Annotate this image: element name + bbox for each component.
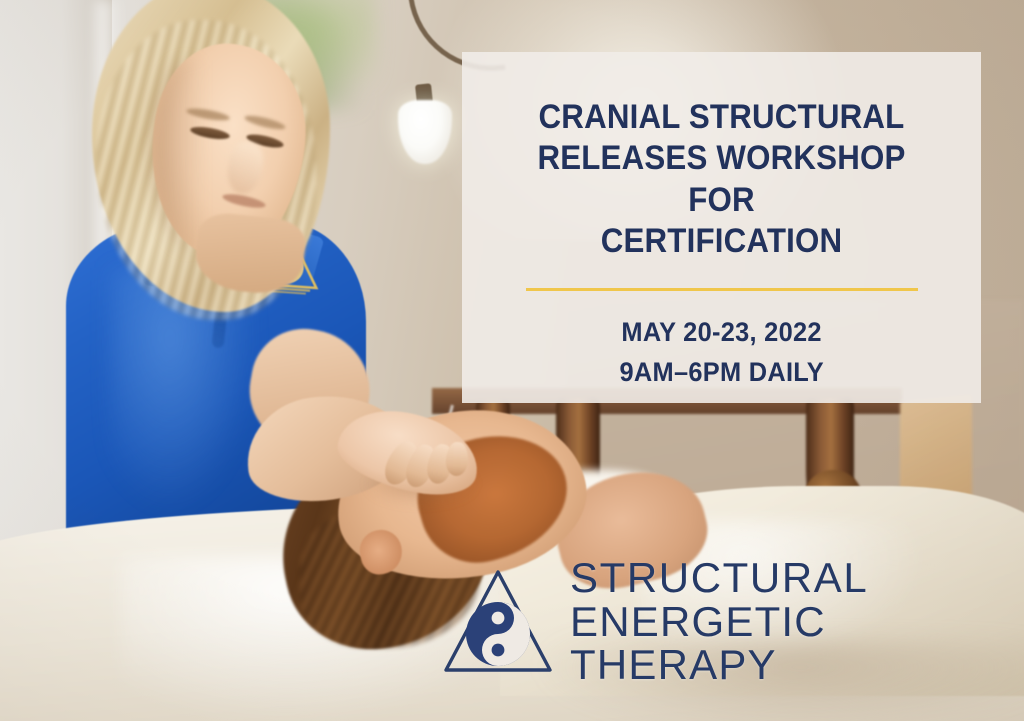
brand-wordmark: STRUCTURAL ENERGETIC THERAPY	[570, 556, 1024, 687]
brand-line-1: STRUCTURAL	[570, 556, 1024, 600]
triangle-yin-yang-icon	[440, 564, 556, 680]
gold-divider	[526, 288, 918, 291]
workshop-dates: MAY 20-23, 2022	[621, 313, 821, 353]
workshop-headline: CRANIAL STRUCTURAL RELEASES WORKSHOP FOR…	[503, 97, 940, 263]
brand-line-2: ENERGETIC THERAPY	[570, 600, 1024, 687]
brand-logo-lockup: STRUCTURAL ENERGETIC THERAPY	[440, 556, 1024, 687]
workshop-hours: 9AM–6PM DAILY	[619, 353, 823, 393]
workshop-poster: CRANIAL STRUCTURAL RELEASES WORKSHOP FOR…	[0, 0, 1024, 721]
text-overlay-panel: CRANIAL STRUCTURAL RELEASES WORKSHOP FOR…	[462, 52, 981, 403]
